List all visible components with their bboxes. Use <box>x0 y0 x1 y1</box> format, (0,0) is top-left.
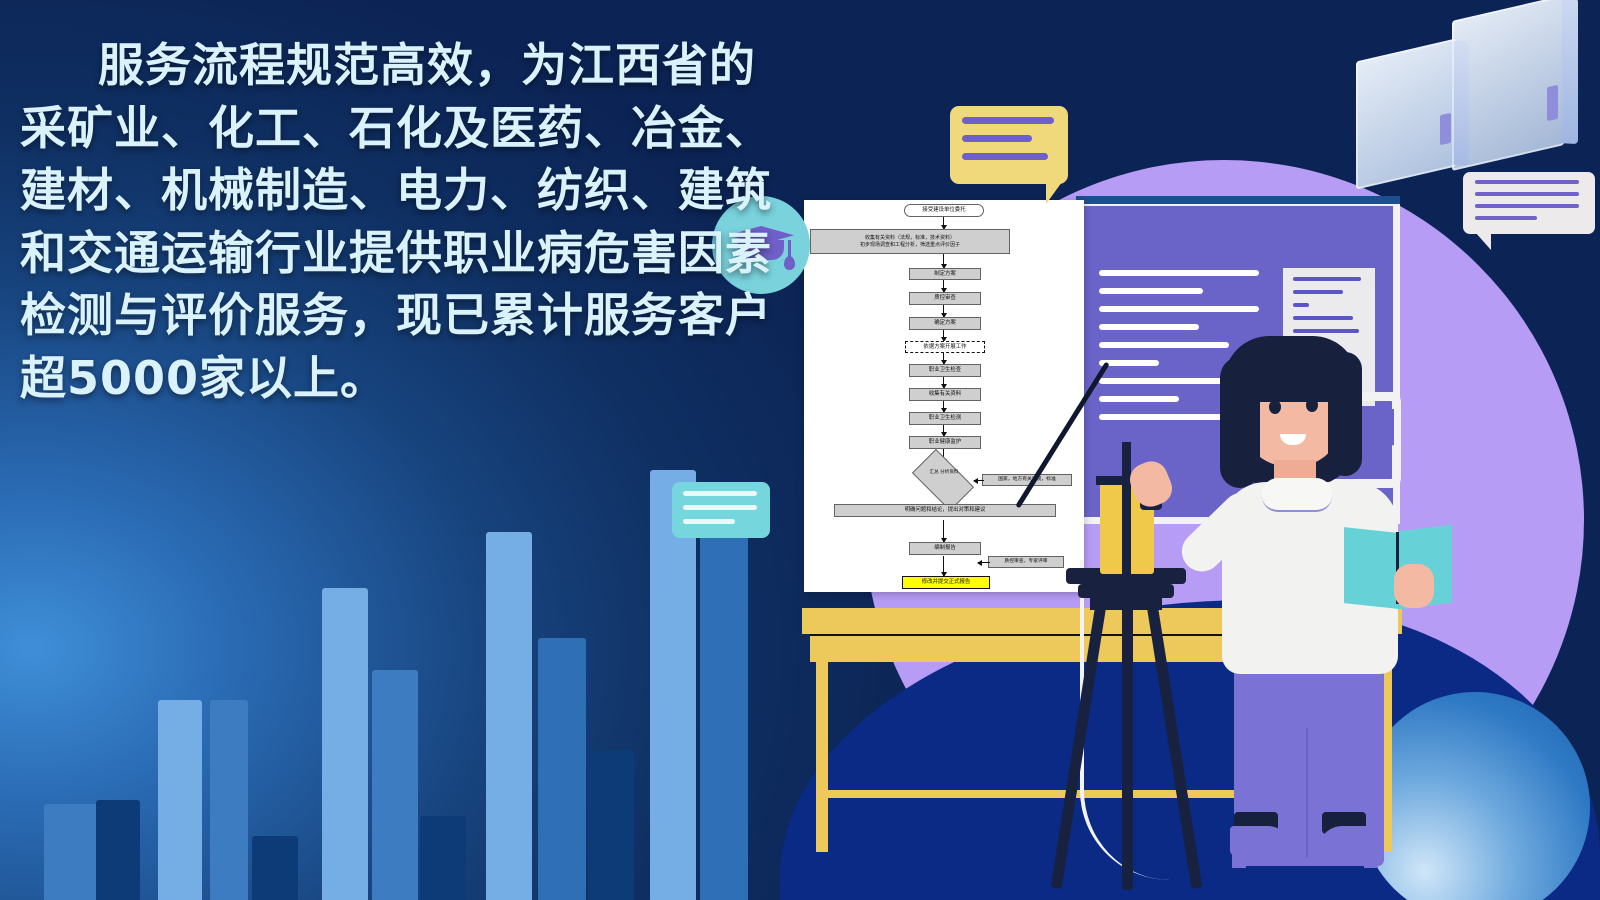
chart-bar <box>486 532 532 900</box>
flow-side-node: 质控审查，专家评审 <box>988 556 1064 568</box>
tripod-leg <box>1122 584 1133 890</box>
chart-bar <box>252 836 298 900</box>
flow-node: 确定方案 <box>909 317 981 330</box>
flow-node: 编制报告 <box>909 542 981 555</box>
headline-text: 服务流程规范高效，为江西省的采矿业、化工、石化及医药、冶金、建材、机械制造、电力… <box>20 34 780 409</box>
flow-node: 收集有关资料（法规，标准，技术资料） 初步现场调查和工程分析，筛选重点评价因子 <box>810 229 1010 254</box>
hair-strand <box>1328 352 1362 476</box>
shoe-heel <box>1364 842 1378 868</box>
flow-node: 接受建设单位委托 <box>904 204 984 217</box>
speech-bubble-icon <box>1463 172 1595 234</box>
turtleneck-collar <box>1262 478 1332 512</box>
device-post <box>1122 442 1131 582</box>
cap-tassel <box>788 240 791 258</box>
flow-node: 依据方案开展工作 <box>905 341 985 353</box>
chart-bar <box>96 800 140 900</box>
board-line <box>1099 306 1259 312</box>
chart-bar <box>372 670 418 900</box>
board-line <box>1099 288 1203 294</box>
eye <box>1269 400 1281 414</box>
tripod-head <box>1090 598 1162 610</box>
measuring-device-tripod <box>1056 420 1196 890</box>
presenter-figure <box>1188 336 1428 856</box>
shoe-heel <box>1232 842 1246 868</box>
chart-bar <box>538 638 586 900</box>
flow-node: 制定方案 <box>909 268 981 280</box>
hair-strand <box>1220 356 1260 488</box>
flowchart: 接受建设单位委托 收集有关资料（法规，标准，技术资料） 初步现场调查和工程分析，… <box>804 200 1084 592</box>
flow-node: 职业卫生检查 <box>909 364 981 377</box>
chart-bar <box>210 700 248 900</box>
flow-node-decision: 汇总 分析资料 <box>914 470 974 476</box>
flow-node: 职业卫生检测 <box>909 412 981 425</box>
board-line <box>1099 324 1199 330</box>
tripod-head <box>1078 584 1174 598</box>
book-bookmark <box>1440 113 1451 146</box>
board-line <box>1099 270 1259 276</box>
flow-node: 职业健康监护 <box>909 436 981 449</box>
tripod-leg <box>1051 591 1109 889</box>
speech-bubble-icon <box>950 106 1068 184</box>
chart-bar <box>322 588 368 900</box>
chart-bar <box>588 750 634 900</box>
note-card-icon <box>672 482 770 538</box>
board-line <box>1099 396 1179 402</box>
chart-bar <box>700 512 748 900</box>
book-bookmark <box>1547 85 1558 122</box>
poster-canvas: 服务流程规范高效，为江西省的采矿业、化工、石化及医药、冶金、建材、机械制造、电力… <box>0 0 1600 900</box>
flow-node: 收集有关资料 <box>909 388 981 401</box>
chart-bar <box>158 700 202 900</box>
leg-seam <box>1306 728 1308 858</box>
hand <box>1394 564 1434 608</box>
flow-node: 明确问题和结论，提出对策和建议 <box>834 504 1056 517</box>
chart-bar <box>44 804 98 900</box>
flow-node: 质控审查 <box>909 292 981 305</box>
flowchart-whiteboard: 接受建设单位委托 收集有关资料（法规，标准，技术资料） 初步现场调查和工程分析，… <box>804 200 1084 592</box>
books-icon <box>1334 2 1574 192</box>
chart-bar <box>420 816 466 900</box>
flow-node-final: 修改并提交正式报告 <box>902 576 990 589</box>
desk-leg <box>816 662 828 852</box>
open-book-page <box>1344 527 1398 609</box>
